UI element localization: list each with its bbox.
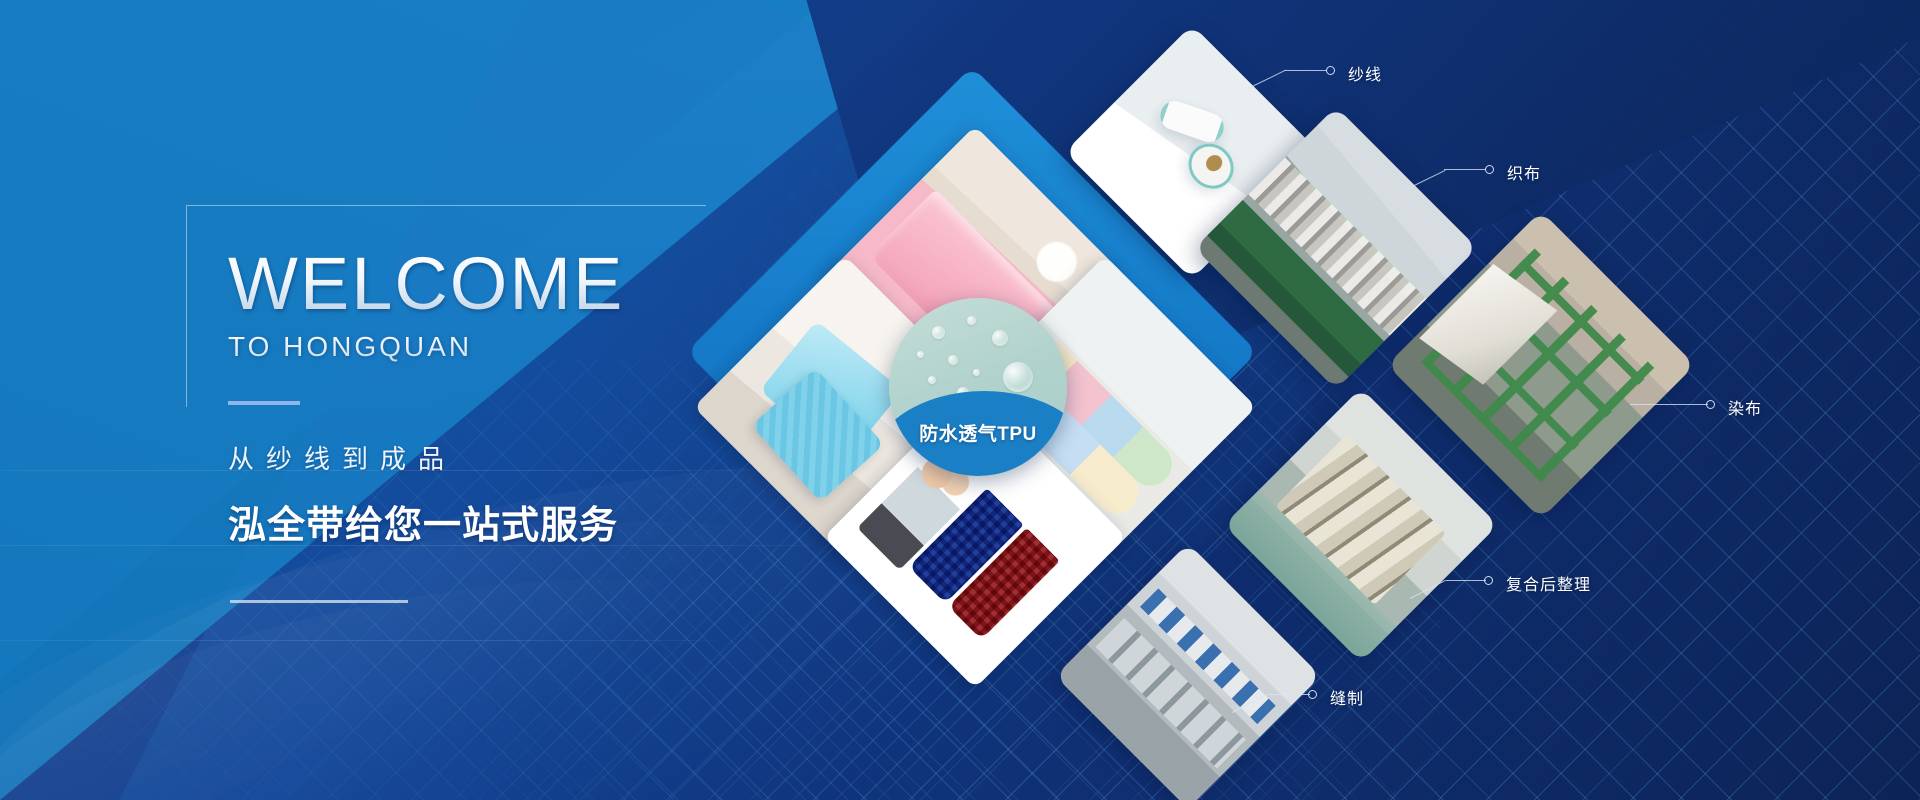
headline-block: WELCOME TO HONGQUAN 从纱线到成品 泓全带给您一站式服务	[228, 205, 788, 549]
welcome-title: WELCOME	[228, 247, 788, 321]
bottom-rule	[230, 600, 408, 603]
process-label-finishing: 复合后整理	[1506, 571, 1591, 595]
process-label-weaving: 织布	[1507, 160, 1541, 184]
tpu-feature-badge[interactable]: 防水透气TPU	[889, 298, 1067, 476]
process-label-yarn: 纱线	[1348, 61, 1382, 85]
process-label-dyeing: 染布	[1728, 395, 1762, 419]
process-label-sewing: 缝制	[1330, 685, 1364, 709]
headline-cn: 泓全带给您一站式服务	[228, 494, 788, 549]
tpu-badge-label: 防水透气TPU	[889, 419, 1067, 446]
tagline-cn: 从纱线到成品	[228, 439, 788, 476]
hero-banner: WELCOME TO HONGQUAN 从纱线到成品 泓全带给您一站式服务	[0, 0, 1920, 800]
background-hairline-3	[0, 640, 720, 641]
